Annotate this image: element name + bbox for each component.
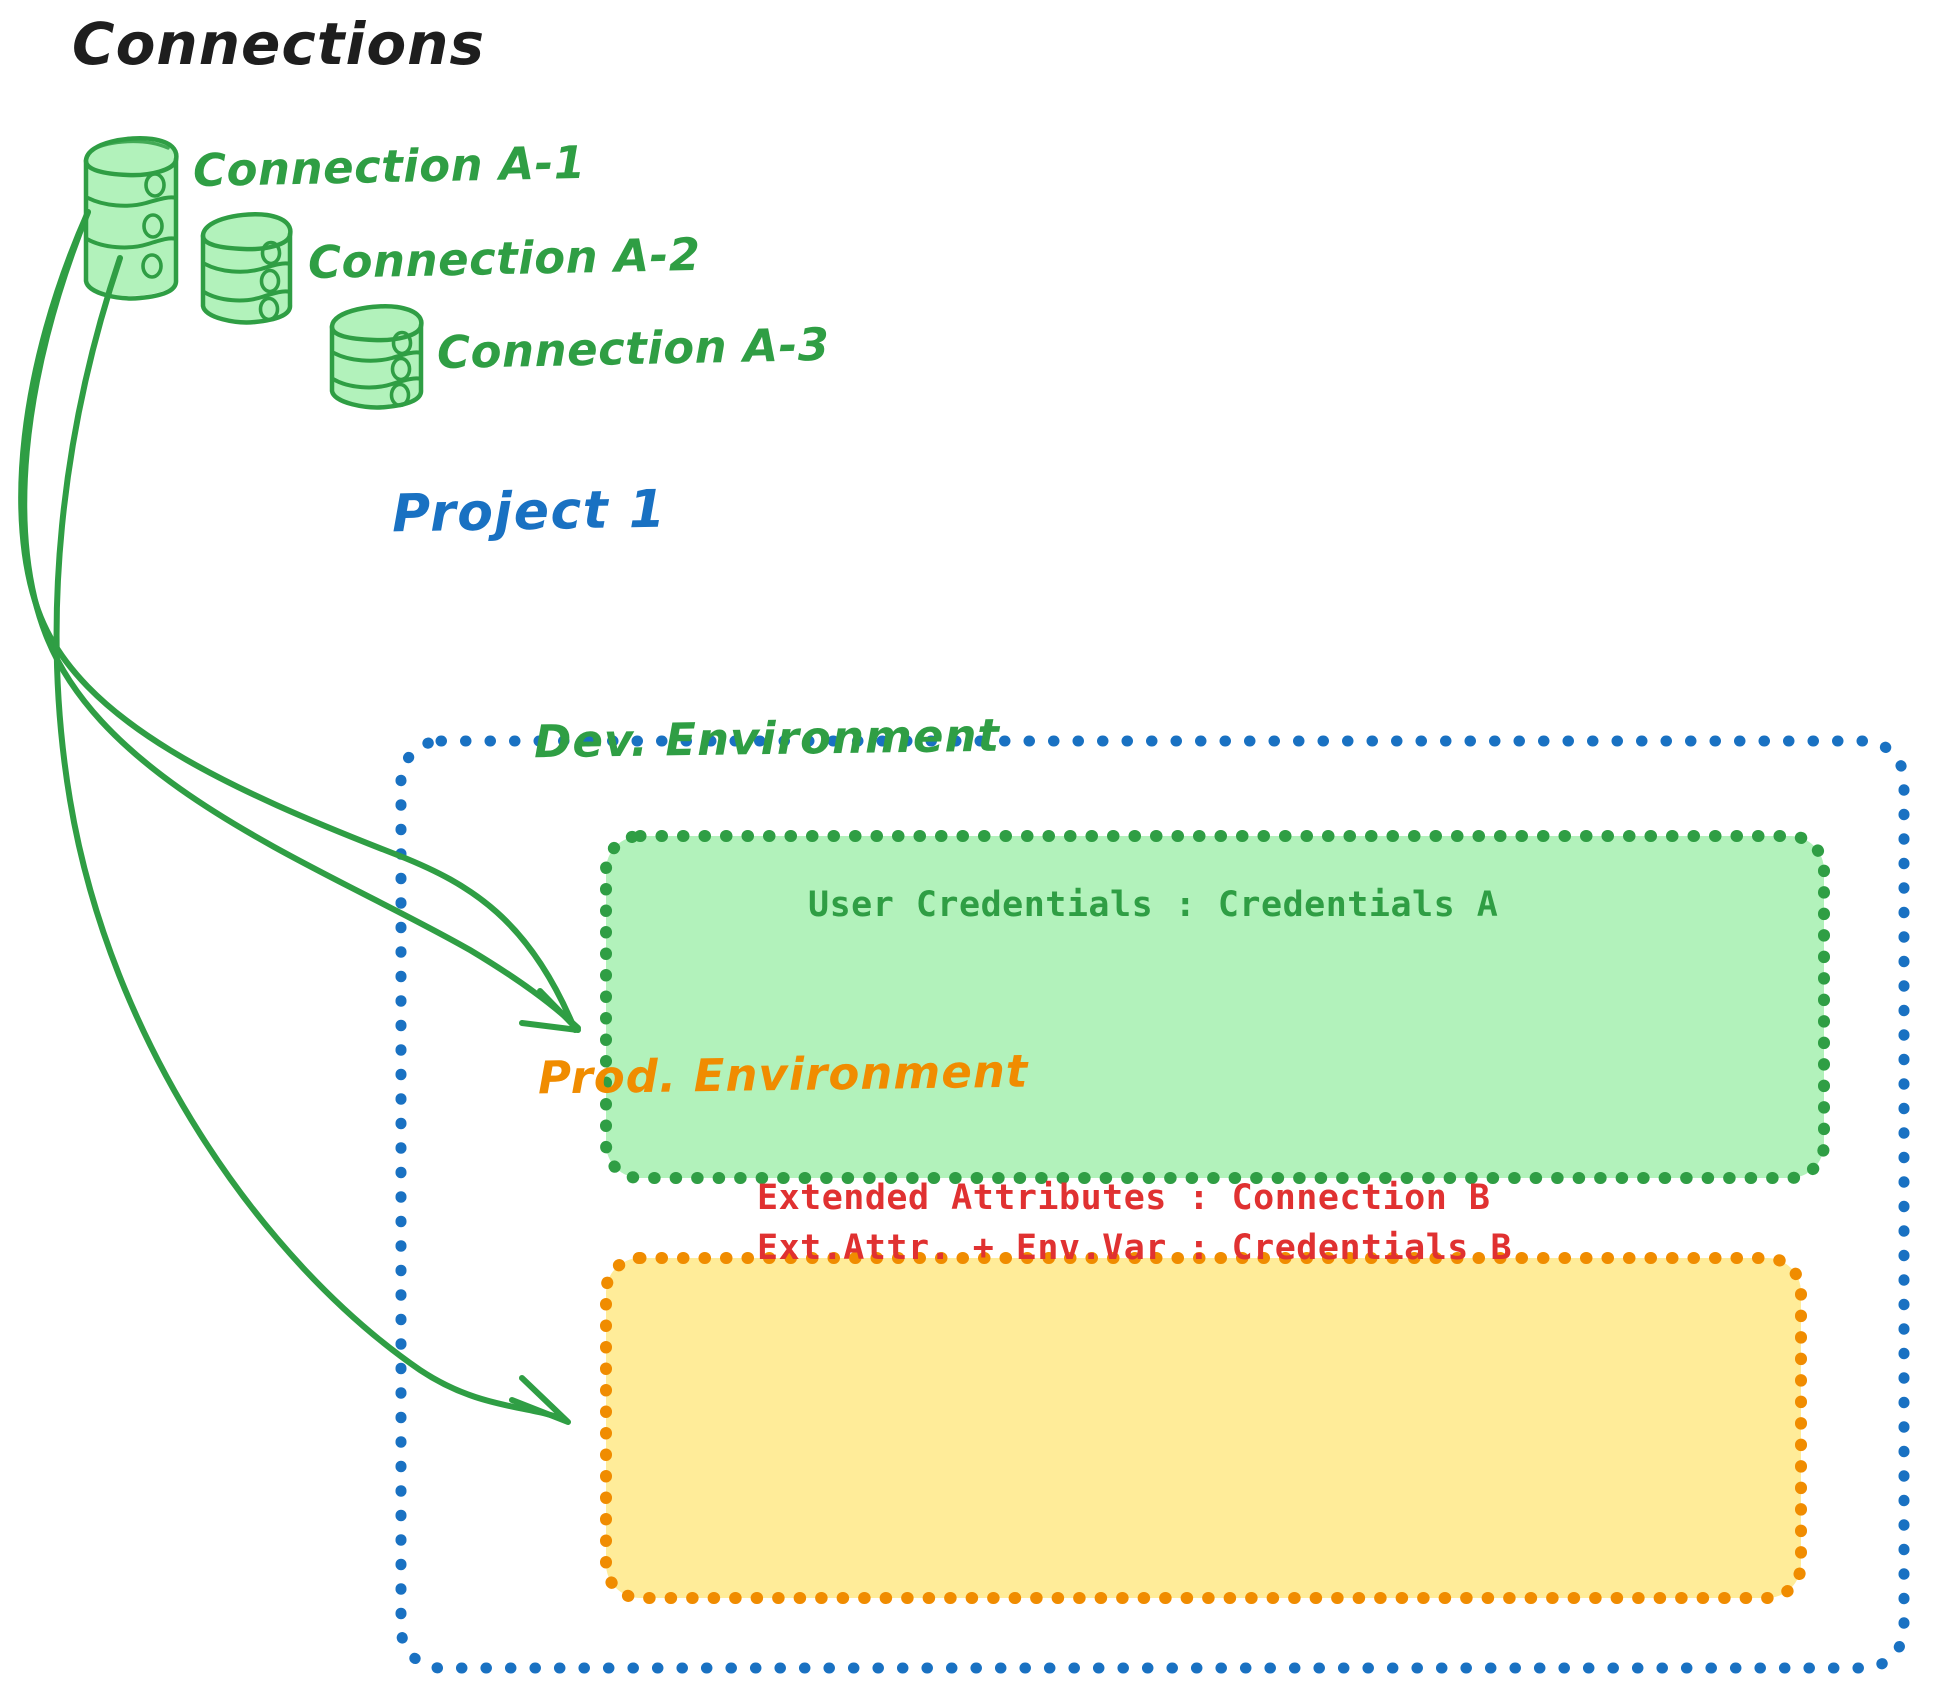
project-title: Project 1 — [391, 480, 666, 545]
dev-environment-attribute-line: User Credentials : Credentials A — [808, 885, 1498, 925]
connection-label-a1: Connection A-1 — [192, 136, 586, 197]
prod-environment-title: Prod. Environment — [538, 1045, 1029, 1105]
diagram-vector-layer — [0, 0, 1938, 1691]
prod-environment-attribute-line-2: Ext.Attr. + Env.Var : Credentials B — [757, 1228, 1512, 1268]
prod-environment-border — [606, 1258, 1801, 1598]
prod-environment-attribute-line-1: Extended Attributes : Connection B — [757, 1178, 1490, 1218]
database-cylinder-icon-2 — [203, 214, 290, 322]
arrow-connection-to-prod-environment — [57, 258, 568, 1422]
page-title: Connections — [72, 10, 485, 78]
diagram-canvas: Connections Connection A-1 Connection A-… — [0, 0, 1938, 1691]
database-cylinder-icon-3 — [332, 306, 421, 407]
dev-environment-title: Dev. Environment — [534, 709, 1001, 769]
database-cylinder-icon-1 — [86, 138, 176, 298]
connection-label-a3: Connection A-3 — [436, 318, 830, 379]
connection-label-a2: Connection A-2 — [307, 228, 701, 289]
